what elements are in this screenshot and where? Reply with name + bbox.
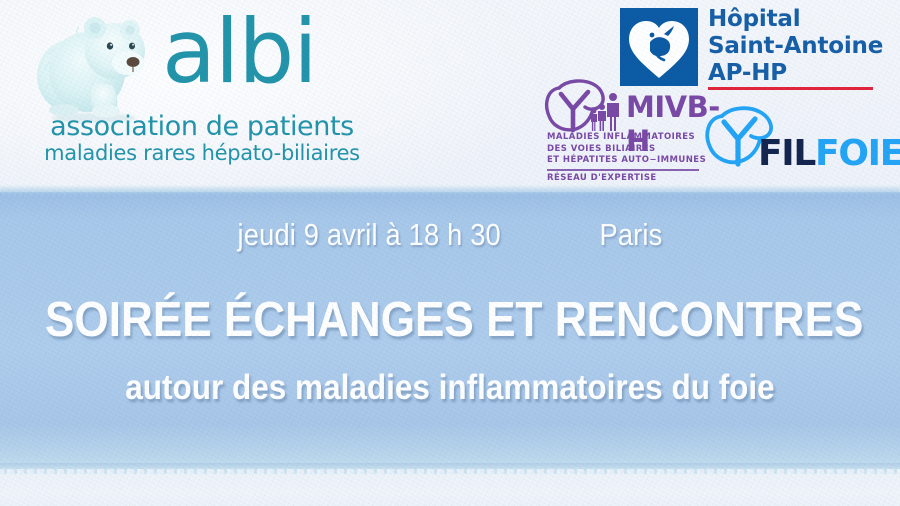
aphp-red-rule (708, 87, 873, 90)
albi-wordmark: albi (162, 8, 317, 96)
albi-tagline-1: association de patients (42, 111, 362, 142)
filfoie-logo: FILFOIE (700, 104, 896, 180)
aphp-text-block: Hôpital Saint-Antoine AP-HP (708, 6, 883, 87)
mivb-network-label: RÉSEAU D'EXPERTISE (547, 173, 657, 183)
event-subtitle: autour des maladies inflammatoires du fo… (45, 368, 855, 408)
aphp-blue-square (620, 8, 698, 86)
aphp-heart-icon (620, 8, 698, 86)
mivb-subtitle: MALADIES INFLAMMATOIRES DES VOIES BILIAI… (547, 132, 706, 167)
poster-bottom-strip (0, 474, 900, 506)
filfoie-part-1: FIL (758, 133, 815, 174)
aphp-line-3: AP-HP (708, 60, 883, 87)
aphp-line-1: Hôpital (708, 6, 883, 33)
mivb-purple-rule (547, 169, 699, 171)
event-date: jeudi 9 avril à 18 h 30 (238, 217, 501, 253)
event-title: SOIRÉE ÉCHANGES ET RENCONTRES (45, 292, 855, 348)
event-city: Paris (599, 217, 662, 253)
albi-logo: albi association de patients maladies ra… (22, 6, 372, 176)
filfoie-part-2: FOIE (815, 133, 900, 174)
aphp-line-2: Saint-Antoine (708, 33, 883, 60)
event-poster: albi association de patients maladies ra… (0, 0, 900, 506)
albi-tagline-2: maladies rares hépato-biliaires (42, 141, 362, 165)
mivb-subtitle-line-2: DES VOIES BILIAIRES (547, 144, 706, 156)
mivb-subtitle-line-3: ET HÉPATITES AUTO−IMMUNES (547, 155, 706, 167)
polar-bear-cub-icon (32, 10, 162, 125)
event-date-row: jeudi 9 avril à 18 h 30 Paris (54, 217, 846, 253)
liver-bile-duct-family-icon (541, 78, 633, 136)
filfoie-wordmark: FILFOIE (758, 133, 900, 174)
event-text-block: jeudi 9 avril à 18 h 30 Paris SOIRÉE ÉCH… (0, 192, 900, 475)
mivb-subtitle-line-1: MALADIES INFLAMMATOIRES (547, 132, 706, 144)
